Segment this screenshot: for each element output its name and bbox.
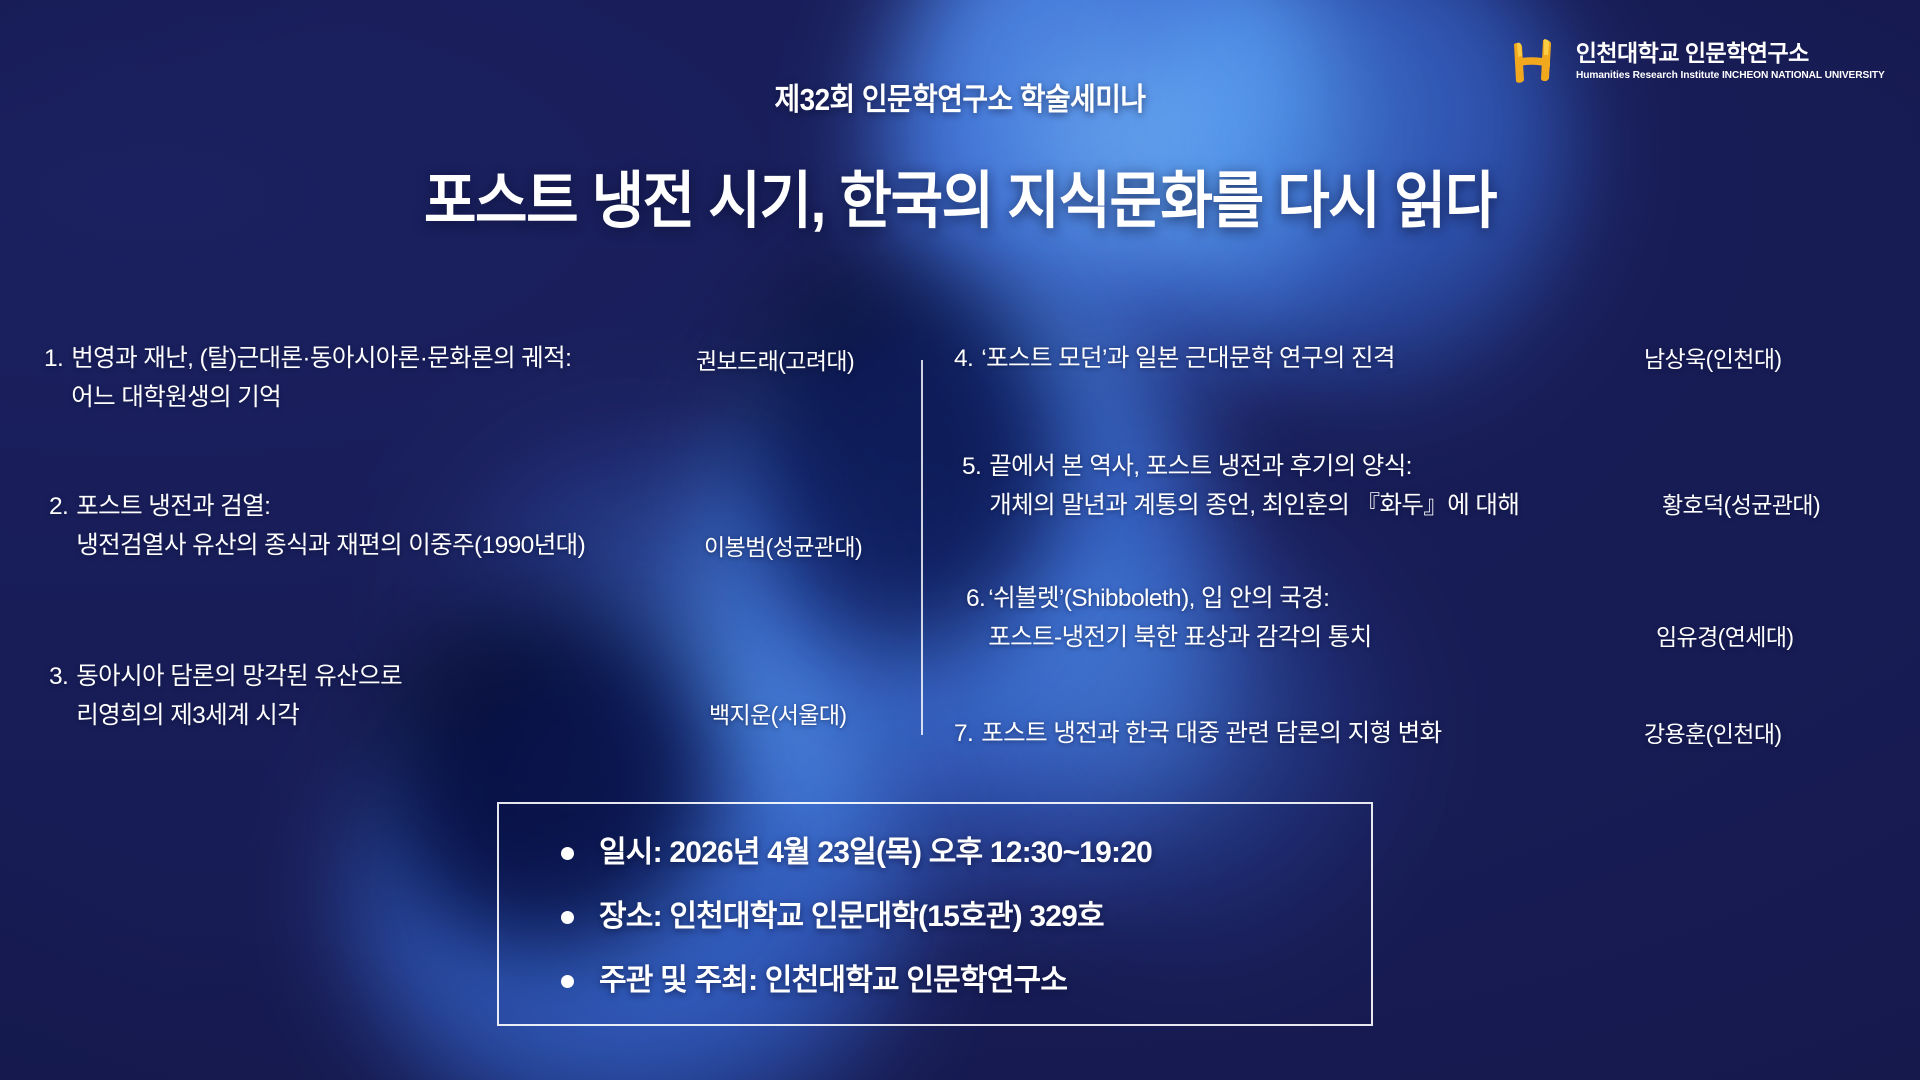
program-item-number: 1. bbox=[44, 340, 63, 379]
program-item: 4. ‘포스트 모던’과 일본 근대문학 연구의 진격 남상욱(인천대) bbox=[954, 340, 1884, 379]
program-item: 3. 동아시아 담론의 망각된 유산으로 리영희의 제3세계 시각 백지운(서울… bbox=[49, 658, 929, 735]
info-item-venue: 장소: 인천대학교 인문대학(15호관) 329호 bbox=[561, 902, 1371, 932]
info-item-organizer: 주관 및 주최: 인천대학교 인문학연구소 bbox=[561, 966, 1371, 996]
program-item: 6. ‘쉬볼렛’(Shibboleth), 입 안의 국경: 포스트-냉전기 북… bbox=[966, 580, 1896, 657]
program-item-speaker: 백지운(서울대) bbox=[709, 696, 846, 730]
program-item-speaker: 남상욱(인천대) bbox=[1644, 340, 1781, 374]
page-title: 포스트 냉전 시기, 한국의 지식문화를 다시 읽다 bbox=[77, 150, 1843, 240]
program-item-title: 포스트 냉전과 검열: 냉전검열사 유산의 종식과 재편의 이중주(1990년대… bbox=[76, 488, 585, 565]
program-item-speaker: 권보드래(고려대) bbox=[696, 342, 854, 376]
program-item: 1. 번영과 재난, (탈)근대론·동아시아론·문화론의 궤적: 어느 대학원생… bbox=[44, 340, 924, 417]
program-item-speaker: 임유경(연세대) bbox=[1656, 618, 1793, 652]
program-item-number: 6. bbox=[966, 580, 985, 619]
program-item-speaker: 황호덕(성균관대) bbox=[1662, 486, 1820, 520]
program-item-speaker: 이봉범(성균관대) bbox=[704, 528, 862, 562]
program-item-number: 7. bbox=[954, 715, 973, 754]
event-info-box: 일시: 2026년 4월 23일(목) 오후 12:30~19:20 장소: 인… bbox=[497, 802, 1373, 1026]
program-item: 5. 끝에서 본 역사, 포스트 냉전과 후기의 양식: 개체의 말년과 계통의… bbox=[962, 448, 1892, 525]
program-item: 7. 포스트 냉전과 한국 대중 관련 담론의 지형 변화 강용훈(인천대) bbox=[954, 715, 1884, 754]
seminar-poster: 인천대학교 인문학연구소 Humanities Research Institu… bbox=[0, 0, 1920, 1080]
info-item-datetime: 일시: 2026년 4월 23일(목) 오후 12:30~19:20 bbox=[561, 838, 1371, 868]
program-item-title: 동아시아 담론의 망각된 유산으로 리영희의 제3세계 시각 bbox=[76, 658, 402, 735]
program-item: 2. 포스트 냉전과 검열: 냉전검열사 유산의 종식과 재편의 이중주(199… bbox=[49, 488, 929, 565]
program-item-title: 끝에서 본 역사, 포스트 냉전과 후기의 양식: 개체의 말년과 계통의 종언… bbox=[989, 448, 1519, 525]
seminar-subtitle: 제32회 인문학연구소 학술세미나 bbox=[96, 74, 1824, 119]
logo-name-korean: 인천대학교 인문학연구소 bbox=[1576, 40, 1809, 66]
program-item-number: 3. bbox=[49, 658, 68, 697]
program-item-number: 2. bbox=[49, 488, 68, 527]
program-item-number: 5. bbox=[962, 448, 981, 487]
program-item-speaker: 강용훈(인천대) bbox=[1644, 715, 1781, 749]
program-item-title: ‘포스트 모던’과 일본 근대문학 연구의 진격 bbox=[981, 340, 1395, 379]
program-item-number: 4. bbox=[954, 340, 973, 379]
event-info-list: 일시: 2026년 4월 23일(목) 오후 12:30~19:20 장소: 인… bbox=[499, 804, 1371, 996]
program-item-title: 포스트 냉전과 한국 대중 관련 담론의 지형 변화 bbox=[981, 715, 1441, 754]
program-item-title: ‘쉬볼렛’(Shibboleth), 입 안의 국경: 포스트-냉전기 북한 표… bbox=[988, 580, 1371, 657]
program-item-title: 번영과 재난, (탈)근대론·동아시아론·문화론의 궤적: 어느 대학원생의 기… bbox=[71, 340, 571, 417]
